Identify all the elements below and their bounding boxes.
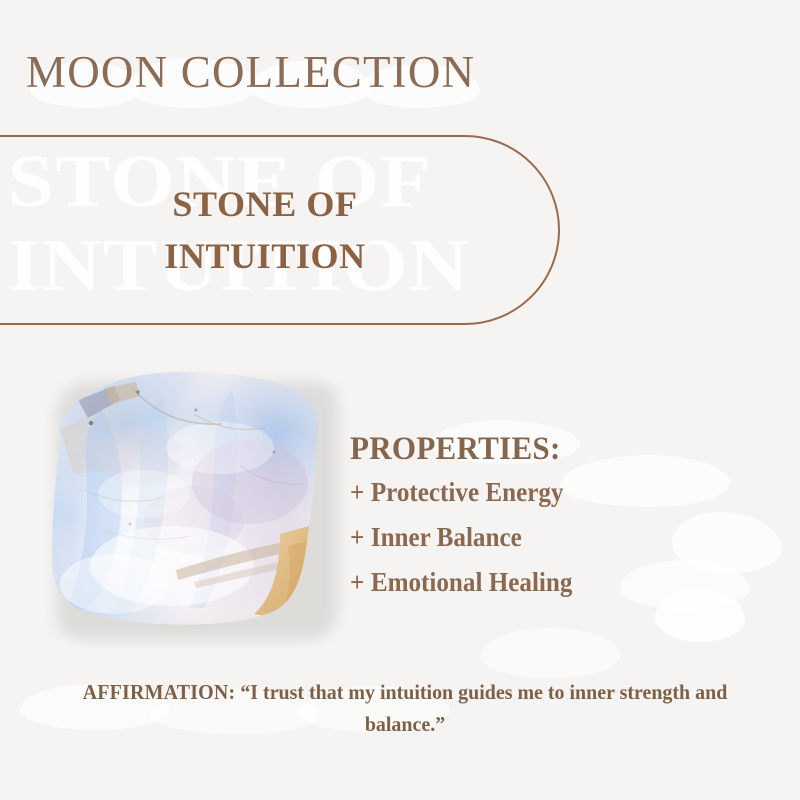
headline-text: STONE OF INTUITION [0, 178, 530, 282]
moonstone-figure [44, 370, 326, 628]
properties-heading: PROPERTIES: [350, 428, 745, 470]
property-label: Inner Balance [371, 522, 522, 552]
affirmation-label: AFFIRMATION: [83, 680, 236, 704]
plus-icon: + [350, 515, 364, 560]
plus-icon: + [350, 560, 364, 605]
property-item: +Emotional Healing [350, 560, 741, 605]
watermark-blob [480, 628, 620, 678]
header: MOON COLLECTION [26, 44, 726, 104]
property-label: Protective Energy [371, 477, 564, 507]
properties-block: PROPERTIES: +Protective Energy +Inner Ba… [350, 428, 770, 605]
affirmation-quote: “I trust that my intuition guides me to … [240, 680, 727, 736]
card-canvas: MOON COLLECTION STONE OF INTUITION STONE… [0, 0, 800, 800]
plus-icon: + [350, 470, 364, 515]
moonstone-icon [44, 370, 326, 628]
property-item: +Protective Energy [350, 470, 741, 515]
property-label: Emotional Healing [371, 567, 573, 597]
page-title: MOON COLLECTION [26, 44, 726, 100]
affirmation-text: AFFIRMATION: “I trust that my intuition … [77, 676, 733, 740]
property-item: +Inner Balance [350, 515, 741, 560]
